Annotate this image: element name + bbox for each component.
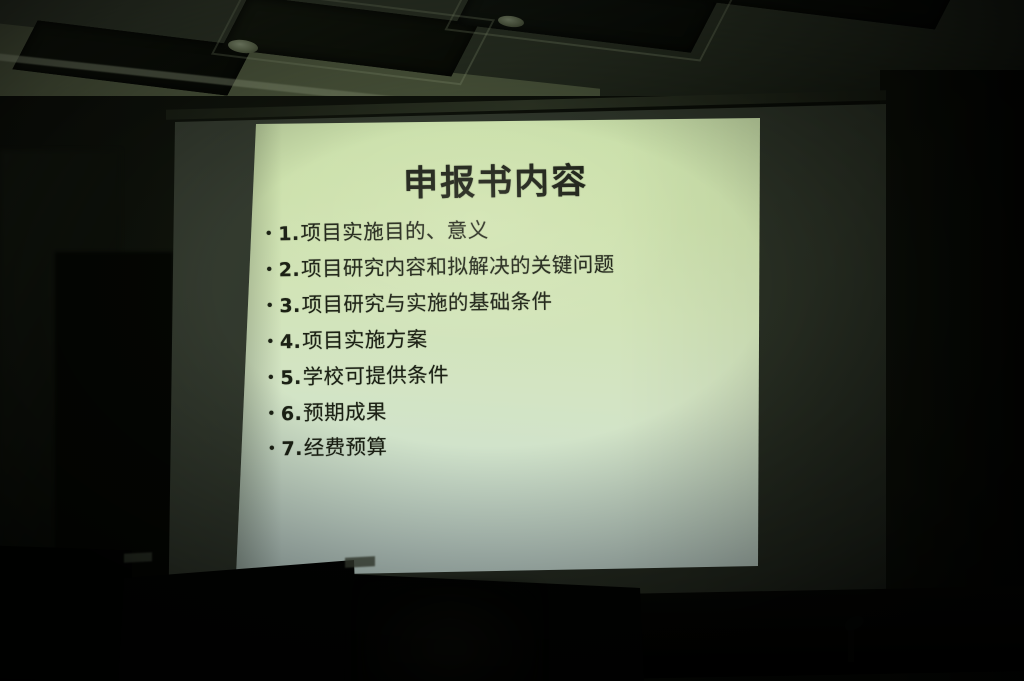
list-item-number: 5. (280, 367, 302, 389)
presentation-room-photo: 申报书内容 • 1.项目实施目的、意义 • 2.项目研究内容和拟解决的关键问题 … (0, 0, 1024, 681)
list-item-number: 4. (280, 331, 302, 353)
bullet-icon: • (267, 405, 281, 423)
bullet-icon: • (265, 261, 279, 279)
chair-corner-highlight (345, 556, 375, 568)
list-item-text: 项目研究内容和拟解决的关键问题 (301, 252, 615, 281)
list-item-text: 项目研究与实施的基础条件 (301, 289, 552, 317)
left-doorway (55, 252, 173, 582)
list-item-text: 经费预算 (304, 435, 388, 460)
list-item: • 1.项目实施目的、意义 (264, 214, 764, 246)
bullet-icon: • (265, 297, 279, 315)
bullet-icon: • (266, 333, 280, 351)
list-item-number: 3. (279, 295, 301, 317)
list-item: • 7.经费预算 (267, 429, 767, 461)
audience-head-silhouette (360, 582, 540, 681)
list-item-text: 预期成果 (303, 399, 387, 424)
chair-corner-highlight (124, 552, 152, 562)
list-item: • 6.预期成果 (267, 394, 767, 426)
list-item-number: 1. (278, 223, 300, 245)
ceiling-coffer-rim (444, 0, 735, 62)
slide-title: 申报书内容 (233, 150, 758, 209)
chair-silhouette (118, 560, 358, 681)
slide-content: 申报书内容 • 1.项目实施目的、意义 • 2.项目研究内容和拟解决的关键问题 … (233, 114, 764, 580)
list-item-text: 学校可提供条件 (302, 362, 449, 388)
list-item-number: 6. (281, 402, 303, 424)
bullet-icon: • (267, 441, 281, 459)
slide-bullet-list: • 1.项目实施目的、意义 • 2.项目研究内容和拟解决的关键问题 • 3.项目… (264, 214, 768, 473)
chair-silhouette (0, 546, 132, 681)
list-item-text: 项目实施目的、意义 (300, 218, 488, 245)
list-item: • 3.项目研究与实施的基础条件 (265, 286, 765, 318)
list-item-number: 2. (279, 259, 301, 281)
list-item: • 4.项目实施方案 (266, 322, 766, 354)
list-item-number: 7. (281, 438, 303, 460)
bullet-icon: • (266, 369, 280, 387)
bullet-icon: • (264, 225, 278, 243)
list-item-text: 项目实施方案 (302, 327, 428, 353)
projected-slide: 申报书内容 • 1.项目实施目的、意义 • 2.项目研究内容和拟解决的关键问题 … (236, 118, 760, 576)
list-item: • 2.项目研究内容和拟解决的关键问题 (265, 250, 765, 282)
list-item: • 5.学校可提供条件 (266, 358, 766, 390)
